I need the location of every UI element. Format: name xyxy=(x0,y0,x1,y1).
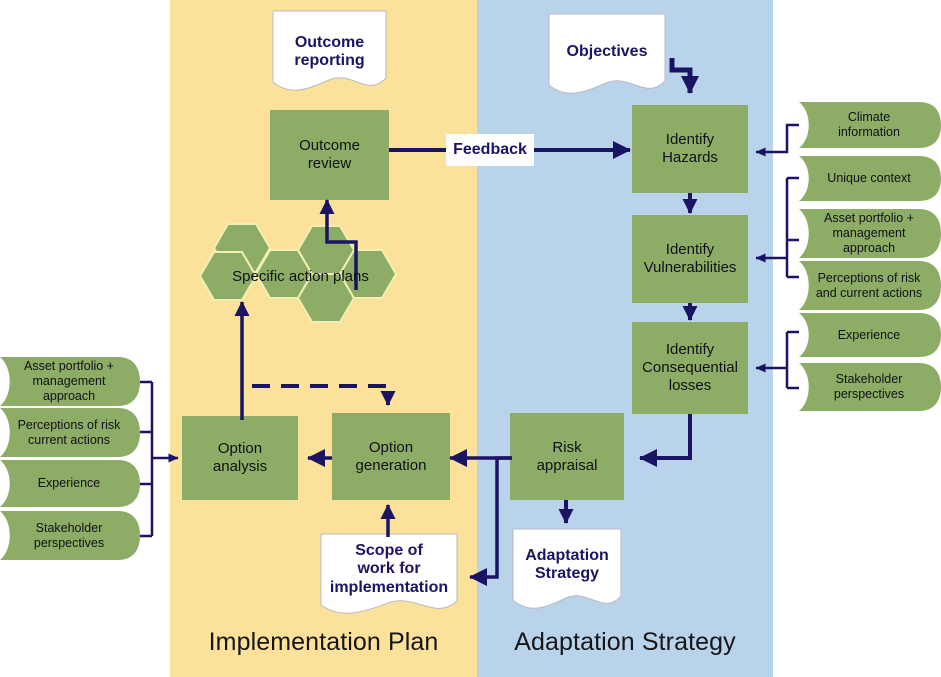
identify-hazards-line1: Identify xyxy=(662,131,718,149)
process-box-identify-consequential-losses[interactable]: Identify Consequential losses xyxy=(632,322,748,414)
panel-label-implementation-plan: Implementation Plan xyxy=(170,628,477,657)
left-input-0-line1: Asset portfolio + xyxy=(12,359,126,374)
option-generation-line1: Option xyxy=(356,439,427,457)
doc-adaptation-strategy: Adaptation Strategy xyxy=(512,528,622,613)
right-input-3-line1: Perceptions of risk xyxy=(816,271,922,286)
right-input-2-line1: Asset portfolio + xyxy=(811,211,927,226)
doc-outcome-reporting-line1: Outcome xyxy=(272,34,387,52)
right-input-1-line1: Unique context xyxy=(827,171,910,186)
input-pill-stakeholder-perspectives-right[interactable]: Stakeholder perspectives xyxy=(799,363,941,411)
input-pill-asset-portfolio-left[interactable]: Asset portfolio + management approach xyxy=(0,357,140,406)
outcome-review-line2: review xyxy=(299,155,360,173)
consequential-losses-line2: Consequential xyxy=(642,359,738,377)
doc-adaptation-line2: Strategy xyxy=(512,565,622,583)
label-feedback-text: Feedback xyxy=(453,141,527,159)
input-pill-climate-information[interactable]: Climate information xyxy=(799,102,941,148)
left-input-0-line2: management approach xyxy=(12,374,126,404)
doc-scope-of-work: Scope of work for implementation xyxy=(320,533,458,618)
right-input-5-line2: perspectives xyxy=(834,387,904,402)
process-box-identify-hazards[interactable]: Identify Hazards xyxy=(632,105,748,193)
doc-outcome-reporting-line2: reporting xyxy=(272,52,387,70)
input-pill-unique-context[interactable]: Unique context xyxy=(799,156,941,201)
right-input-2-line2: management approach xyxy=(811,226,927,256)
input-pill-experience-left[interactable]: Experience xyxy=(0,460,140,507)
left-input-1-line2: current actions xyxy=(18,433,121,448)
consequential-losses-line1: Identify xyxy=(642,341,738,359)
process-box-risk-appraisal[interactable]: Risk appraisal xyxy=(510,413,624,500)
option-analysis-line2: analysis xyxy=(213,458,267,476)
right-input-3-line2: and current actions xyxy=(816,286,922,301)
identify-hazards-line2: Hazards xyxy=(662,149,718,167)
risk-appraisal-line1: Risk xyxy=(537,439,598,457)
right-input-4-line1: Experience xyxy=(838,328,901,343)
process-box-option-analysis[interactable]: Option analysis xyxy=(182,416,298,500)
label-feedback: Feedback xyxy=(446,134,534,166)
doc-scope-line1: Scope of xyxy=(320,542,458,560)
hexagon-cluster-specific-action-plans: Specific action plans xyxy=(198,218,403,348)
option-generation-line2: generation xyxy=(356,457,427,475)
identify-vulnerabilities-line1: Identify xyxy=(644,241,737,259)
process-box-outcome-review[interactable]: Outcome review xyxy=(270,110,389,200)
left-input-3-line2: perspectives xyxy=(34,536,104,551)
right-input-5-line1: Stakeholder xyxy=(834,372,904,387)
process-box-option-generation[interactable]: Option generation xyxy=(332,413,450,500)
left-input-3-line1: Stakeholder xyxy=(34,521,104,536)
identify-vulnerabilities-line2: Vulnerabilities xyxy=(644,259,737,277)
right-input-0-line2: information xyxy=(838,125,900,140)
hexagon-cluster-label: Specific action plans xyxy=(198,268,403,285)
input-pill-stakeholder-perspectives-left[interactable]: Stakeholder perspectives xyxy=(0,511,140,560)
risk-appraisal-line2: appraisal xyxy=(537,457,598,475)
panel-label-adaptation-strategy: Adaptation Strategy xyxy=(477,628,773,657)
doc-objectives: Objectives xyxy=(548,13,666,98)
option-analysis-line1: Option xyxy=(213,440,267,458)
diagram-canvas: Outcome reporting Objectives Scope of wo… xyxy=(0,0,941,677)
doc-objectives-line1: Objectives xyxy=(548,43,666,61)
doc-scope-line2: work for xyxy=(320,560,458,578)
process-box-identify-vulnerabilities[interactable]: Identify Vulnerabilities xyxy=(632,215,748,303)
consequential-losses-line3: losses xyxy=(642,377,738,395)
left-input-1-line1: Perceptions of risk xyxy=(18,418,121,433)
input-pill-perceptions-of-risk-left[interactable]: Perceptions of risk current actions xyxy=(0,408,140,457)
left-input-2-line1: Experience xyxy=(38,476,101,491)
right-input-0-line1: Climate xyxy=(838,110,900,125)
outcome-review-line1: Outcome xyxy=(299,137,360,155)
doc-scope-line3: implementation xyxy=(320,579,458,597)
doc-adaptation-line1: Adaptation xyxy=(512,547,622,565)
doc-outcome-reporting: Outcome reporting xyxy=(272,10,387,95)
input-pill-asset-portfolio-right[interactable]: Asset portfolio + management approach xyxy=(799,209,941,258)
input-pill-perceptions-of-risk-right[interactable]: Perceptions of risk and current actions xyxy=(799,261,941,310)
input-pill-experience-right[interactable]: Experience xyxy=(799,313,941,357)
